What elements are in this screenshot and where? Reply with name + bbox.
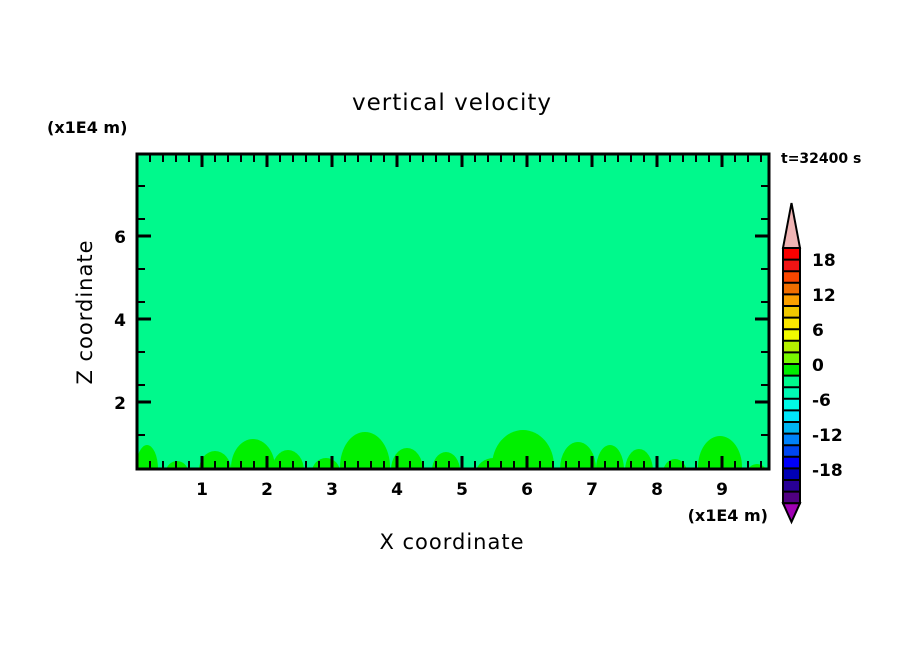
x-tick-label: 2 <box>261 480 273 500</box>
colorbar-band <box>783 480 800 492</box>
colorbar-band <box>783 306 800 318</box>
colorbar-band <box>783 422 800 434</box>
colorbar-label: 6 <box>812 321 824 341</box>
colorbar-band <box>783 387 800 399</box>
y-axis-title: Z coordinate <box>73 239 97 384</box>
colorbar-band <box>783 352 800 364</box>
colorbar-band <box>783 492 800 504</box>
colorbar-label: 0 <box>812 356 824 376</box>
colorbar-band <box>783 248 800 260</box>
y-tick-label: 2 <box>114 394 126 414</box>
colorbar-band <box>783 399 800 411</box>
x-tick-label: 5 <box>456 480 468 500</box>
colorbar-band <box>783 271 800 283</box>
page-title: vertical velocity <box>352 90 552 116</box>
colorbar-band <box>783 283 800 295</box>
contour-background-level <box>137 154 769 469</box>
x-axis-title: X coordinate <box>379 530 524 554</box>
colorbar-label: -18 <box>812 461 843 481</box>
colorbar-label: -12 <box>812 426 843 446</box>
x-tick-label: 3 <box>326 480 338 500</box>
x-tick-label: 9 <box>716 480 728 500</box>
colorbar-band <box>783 364 800 376</box>
colorbar-band <box>783 329 800 341</box>
colorbar-label: 12 <box>812 286 836 306</box>
colorbar-band <box>783 410 800 422</box>
x-tick-label: 4 <box>391 480 403 500</box>
y-tick-label: 6 <box>114 228 126 248</box>
colorbar-band <box>783 445 800 457</box>
colorbar-label: 18 <box>812 251 836 271</box>
x-tick-label: 7 <box>586 480 598 500</box>
plot-area <box>136 154 769 502</box>
colorbar-band <box>783 318 800 330</box>
colorbar-band <box>783 294 800 306</box>
x-tick-label: 8 <box>651 480 663 500</box>
figure-canvas: vertical velocity (x1E4 m) <box>0 0 904 654</box>
colorbar-label: -6 <box>812 391 831 411</box>
colorbar-band <box>783 457 800 469</box>
vertical-velocity-contour-figure: vertical velocity (x1E4 m) <box>0 0 904 654</box>
colorbar-band <box>783 434 800 446</box>
y-axis-unit-label: (x1E4 m) <box>47 118 127 137</box>
colorbar-band <box>783 468 800 480</box>
x-tick-label: 1 <box>196 480 208 500</box>
colorbar-band <box>783 341 800 353</box>
colorbar-band <box>783 260 800 272</box>
x-axis-unit-label: (x1E4 m) <box>688 506 768 525</box>
colorbar-band <box>783 376 800 388</box>
x-tick-label: 6 <box>521 480 533 500</box>
timestamp-annotation: t=32400 s <box>781 151 861 167</box>
y-tick-label: 4 <box>114 311 126 331</box>
